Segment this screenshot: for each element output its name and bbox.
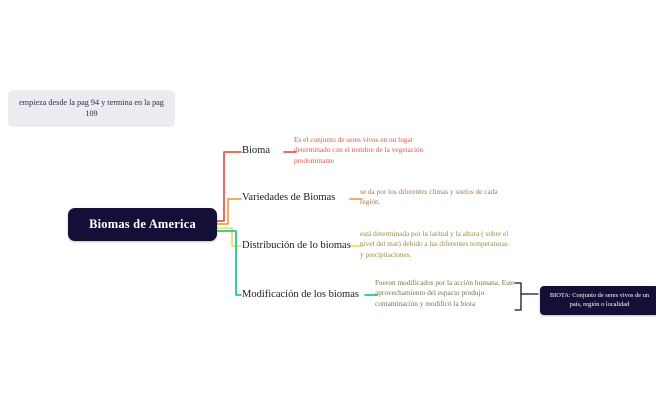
branch-desc-distribucion-de-lo-biomas[interactable]: está determinada por la latitud y la alt… <box>360 229 512 260</box>
connector-distribucion <box>217 228 241 246</box>
branch-title-variedades-de-biomas[interactable]: Variedades de Biomas <box>242 192 352 203</box>
branch-distribucion-de-lo-biomas[interactable]: Distribución de lo biomas está determina… <box>242 240 352 251</box>
branch-variedades-de-biomas[interactable]: Variedades de Biomas se da por los difer… <box>242 192 352 203</box>
branch-desc-bioma[interactable]: Es el conjunto de seres vivos en un luga… <box>294 135 446 166</box>
branch-title-modificacion-de-los-biomas[interactable]: Modificación de los biomas <box>242 289 367 300</box>
branch-title-bioma[interactable]: Bioma <box>242 145 287 156</box>
branch-desc-modificacion-de-los-biomas[interactable]: Fueron modificados por la acción humana.… <box>375 278 523 309</box>
connector-variedades <box>217 199 241 224</box>
page-range-note[interactable]: empieza desde la pag 94 y termina en la … <box>8 90 175 127</box>
connector-modificacion <box>217 231 241 295</box>
branch-bioma[interactable]: Bioma Es el conjunto de seres vivos en u… <box>242 145 287 156</box>
root-node[interactable]: Biomas de America <box>68 208 217 241</box>
connector-bioma <box>217 152 241 221</box>
branch-modificacion-de-los-biomas[interactable]: Modificación de los biomas Fueron modifi… <box>242 289 367 300</box>
mindmap-canvas: empieza desde la pag 94 y termina en la … <box>0 0 656 406</box>
biota-badge[interactable]: BIOTA: Conjunto de seres vivos de un paí… <box>540 286 656 315</box>
branch-desc-variedades-de-biomas[interactable]: se da por los diferentes climas y suelos… <box>360 187 510 208</box>
connector-wires <box>0 0 656 406</box>
branch-title-distribucion-de-lo-biomas[interactable]: Distribución de lo biomas <box>242 240 352 251</box>
